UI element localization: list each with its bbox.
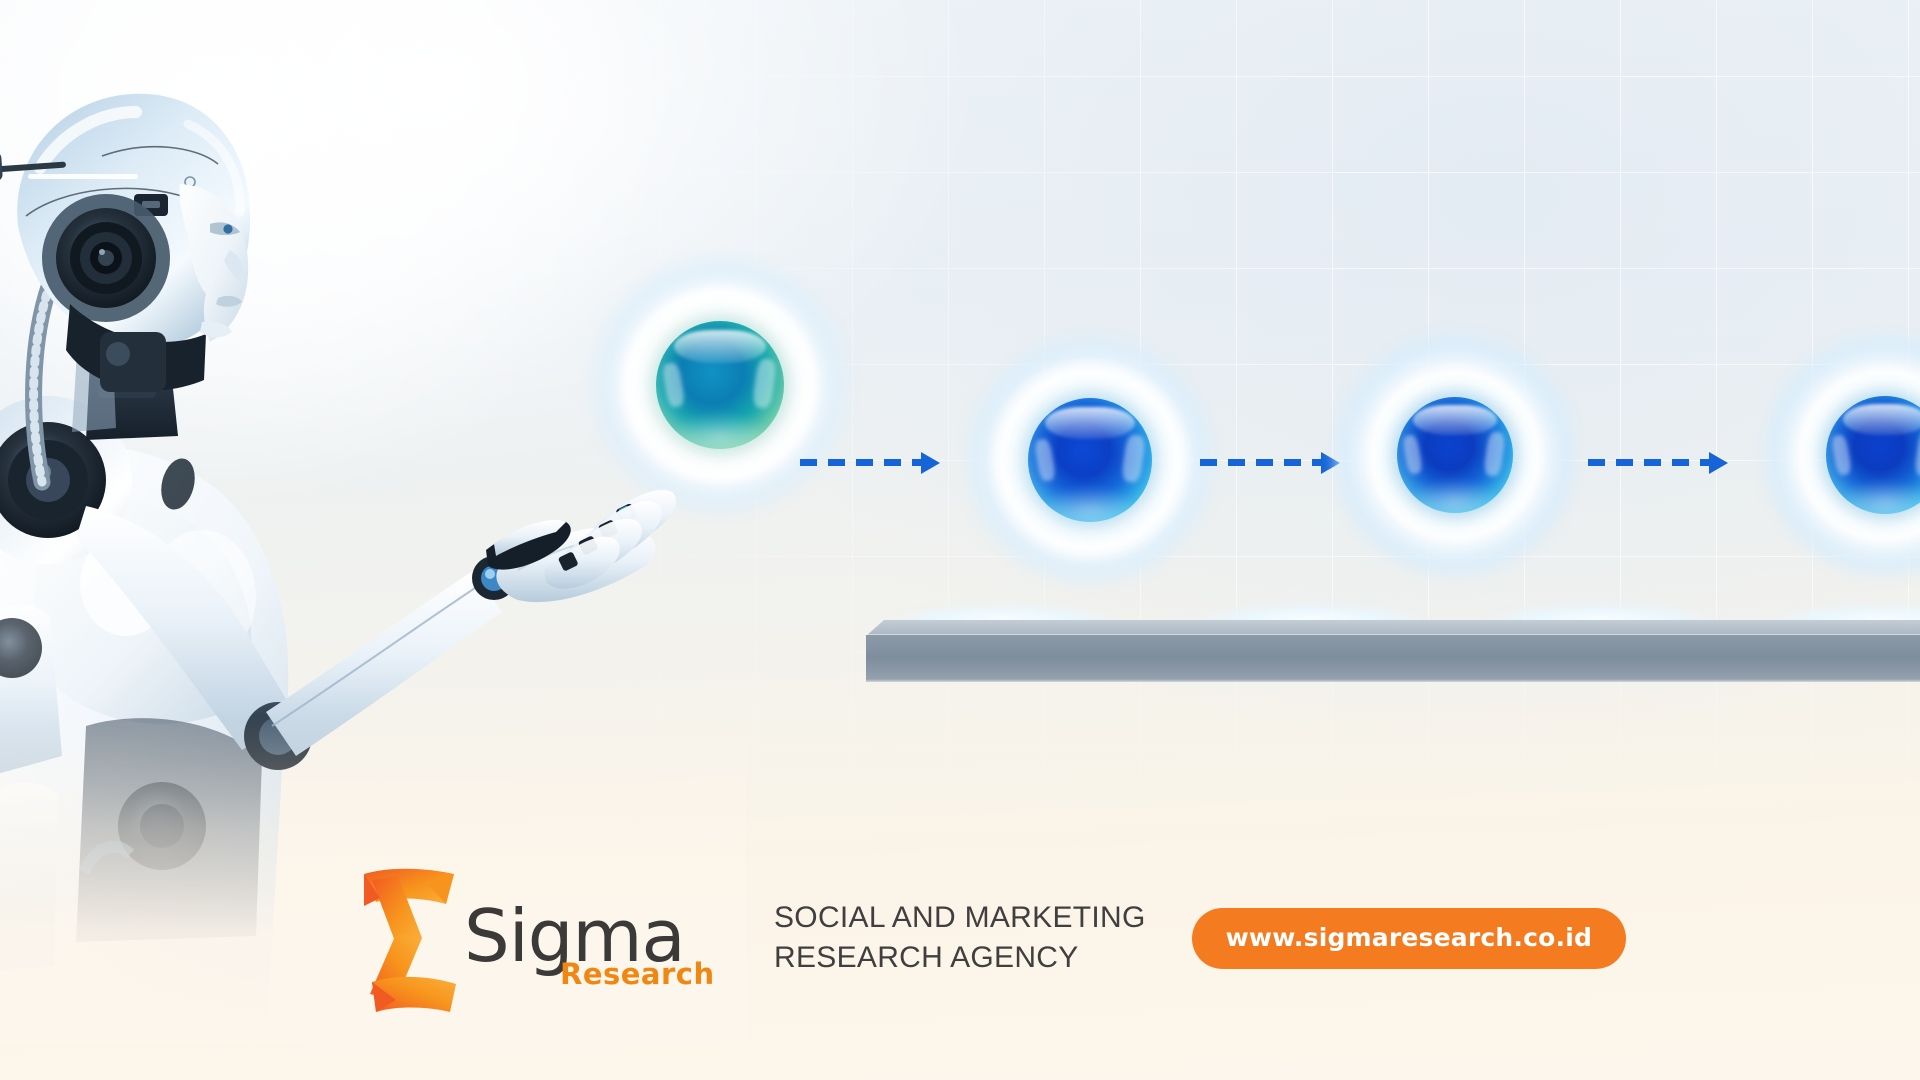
arrow-1-dashes: [800, 459, 923, 466]
robot-head-stripe: [28, 174, 138, 179]
sigma-logo-mark: [350, 862, 468, 1014]
arrow-1: [800, 458, 940, 467]
robot-eye-iris: [223, 224, 232, 233]
arrow-3-head: [1709, 452, 1728, 474]
sigma-logo-wordmark: Sigma Research: [464, 878, 722, 998]
website-url-button[interactable]: www.sigmaresearch.co.id: [1192, 908, 1626, 969]
orb-3-highlight-left: [1402, 434, 1424, 475]
arrow-2-dashes: [1200, 459, 1323, 466]
banner-canvas: Sigma Research SOCIAL AND MARKETING RESE…: [0, 0, 1920, 1080]
robot-forearm: [266, 570, 502, 756]
orb-2-highlight-left: [1033, 438, 1056, 482]
orb-2[interactable]: [960, 330, 1220, 590]
orb-1-highlight-right: [751, 358, 777, 409]
arrow-3-dashes: [1588, 459, 1711, 466]
footer-bar: Sigma Research SOCIAL AND MARKETING RESE…: [350, 862, 1626, 1014]
shelf-front-face: [866, 635, 1920, 682]
orb-2-highlight-right: [1120, 434, 1145, 483]
orb-2-sphere: [1028, 398, 1152, 522]
orb-4[interactable]: [1760, 330, 1920, 580]
orb-4-highlight-right: [1914, 430, 1920, 477]
arrow-3: [1588, 458, 1728, 467]
robot-ear-lens: [42, 194, 170, 322]
agency-tagline: SOCIAL AND MARKETING RESEARCH AGENCY: [774, 898, 1146, 978]
orb-3-highlight-right: [1483, 431, 1506, 477]
arrow-1-head: [921, 452, 940, 474]
orb-3-sphere: [1397, 397, 1513, 513]
logo-brand-sub: Research: [560, 960, 715, 989]
orb-3[interactable]: [1330, 330, 1580, 580]
orb-4-highlight-left: [1831, 434, 1853, 476]
display-shelf: [866, 620, 1920, 682]
arrow-2: [1200, 458, 1340, 467]
